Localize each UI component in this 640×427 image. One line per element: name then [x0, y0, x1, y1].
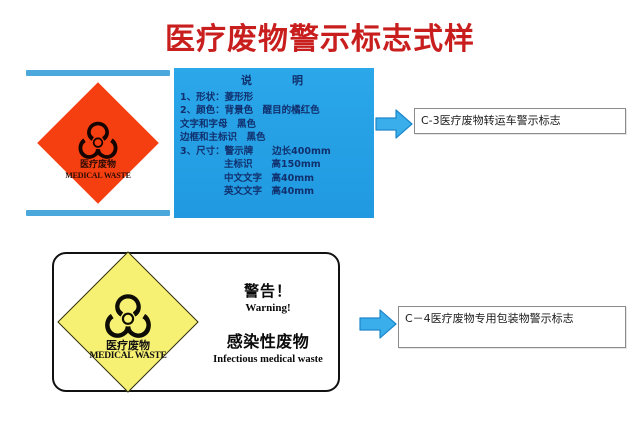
transport-sign-panel: 医疗废物 MEDICAL WASTE [22, 68, 174, 218]
label-transport-sign: C-3医疗废物转运车警示标志 [414, 108, 626, 134]
specification-heading: 说 明 [180, 73, 370, 89]
yellow-sign-label-cn: 医疗废物 [106, 340, 150, 351]
arrow-right-icon [374, 107, 414, 141]
yellow-sign-label-en: MEDICAL WASTE [90, 352, 167, 362]
biohazard-icon [101, 291, 155, 338]
spec-line-color: 2、颜色：背景色 醒目的橘红色 [180, 104, 370, 117]
yellow-sign-content: 医疗废物 MEDICAL WASTE [54, 254, 202, 394]
orange-sign-label-cn: 医疗废物 [80, 161, 116, 170]
label-package-sign: C－4医疗废物专用包装物警示标志 [398, 306, 626, 348]
panel-top-rule [26, 70, 170, 76]
warning-heading-en: Warning! [206, 302, 330, 314]
spec-line-text-color: 文字和字母 黑色 [180, 118, 370, 131]
spec-line-size-board: 3、尺寸：警示牌 边长400mm [180, 145, 370, 158]
medical-waste-orange-sign: 医疗废物 MEDICAL WASTE [38, 83, 158, 203]
arrow-right-icon [358, 307, 398, 341]
spec-line-size-mark: 主标识 高150mm [180, 158, 370, 171]
package-sign-card: 医疗废物 MEDICAL WASTE 警告！ Warning! 感染性废物 In… [52, 252, 340, 392]
transport-sign-banner: 医疗废物 MEDICAL WASTE 说 明 1、形状：菱形形 2、颜色：背景色… [22, 68, 374, 218]
spec-line-size-cn-text: 中文文字 高40mm [180, 172, 370, 185]
medical-waste-yellow-sign: 医疗废物 MEDICAL WASTE [54, 254, 202, 390]
label-transport-sign-text: C-3医疗废物转运车警示标志 [421, 113, 561, 129]
infectious-waste-en: Infectious medical waste [206, 354, 330, 365]
spec-line-border-color: 边框和主标识 黑色 [180, 131, 370, 144]
infectious-waste-cn: 感染性废物 [206, 328, 330, 352]
spec-line-size-en-text: 英文文字 高40mm [180, 185, 370, 198]
panel-bottom-rule [26, 210, 170, 216]
orange-sign-content: 医疗废物 MEDICAL WASTE [38, 83, 158, 209]
spec-line-shape: 1、形状：菱形形 [180, 91, 370, 104]
orange-sign-label-en: MEDICAL WASTE [65, 172, 131, 180]
page-title: 医疗废物警示标志式样 [0, 14, 640, 58]
specification-panel: 说 明 1、形状：菱形形 2、颜色：背景色 醒目的橘红色 文字和字母 黑色 边框… [174, 68, 374, 218]
label-package-sign-text: C－4医疗废物专用包装物警示标志 [405, 312, 574, 325]
warning-text-block: 警告！ Warning! 感染性废物 Infectious medical wa… [202, 280, 338, 365]
biohazard-icon [75, 119, 121, 159]
warning-heading-cn: 警告！ [206, 280, 330, 301]
